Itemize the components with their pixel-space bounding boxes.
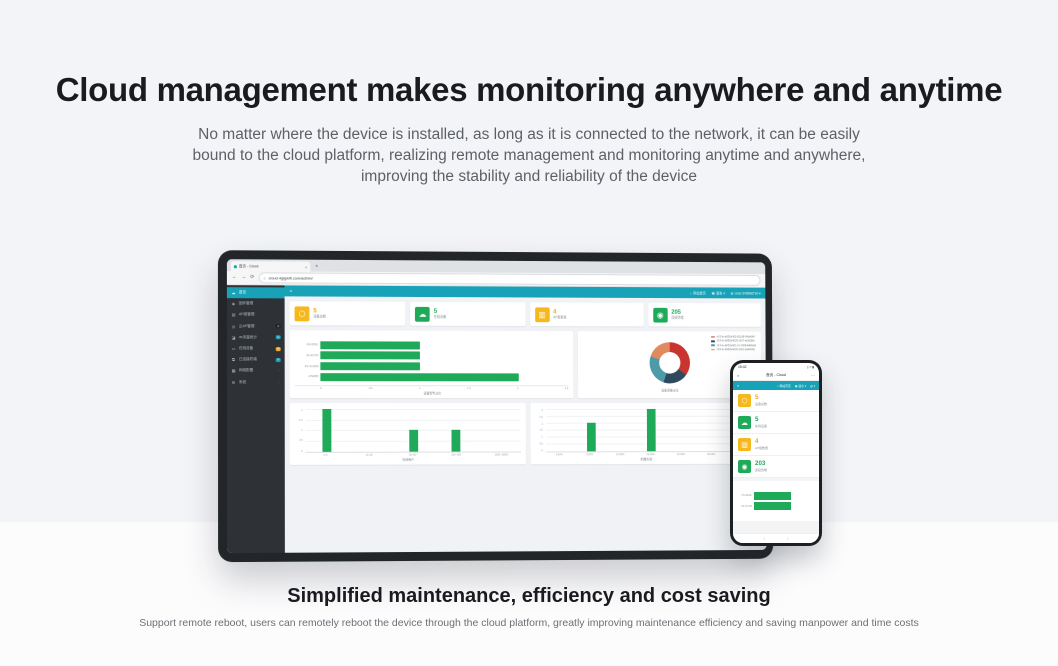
- back-icon[interactable]: ←: [232, 275, 237, 280]
- language-icon: ▣: [795, 384, 798, 388]
- chart-traffic-usage: 3 2.5 2 1.5 1 0.5 0: [530, 403, 761, 464]
- app-main: ≡ ⌂ 网站首页 ▣ 语言 ▾ ◍: [285, 285, 767, 552]
- share-icon: ⧉: [231, 358, 236, 362]
- phone-status-bar: 15:42 ▯ ⌾ ▮: [733, 363, 819, 371]
- address-bar[interactable]: ⌂ cloud.4glgwifi.com/admin/: [258, 273, 760, 286]
- reload-icon[interactable]: ⟳: [250, 275, 254, 280]
- sidebar-item-label: 云AP管理: [239, 324, 255, 329]
- header-item-website[interactable]: ⌂ 网站首页: [690, 290, 706, 295]
- bar-fill: [754, 502, 791, 510]
- menu-toggle-icon[interactable]: ≡: [737, 384, 739, 388]
- bar-fill: [320, 352, 420, 360]
- header-item-label: User:345688736 ▾: [735, 291, 761, 295]
- axis-tick: 0.5: [539, 442, 542, 445]
- stat-label: 设备总数: [313, 315, 326, 318]
- stat-value: 203: [755, 461, 767, 467]
- phone-title-bar: × 首页 - Cloud ⋯: [733, 371, 819, 381]
- bar-category-label: XS-3000L: [295, 344, 319, 347]
- legend-label: rf13-lu-fd052e0020-1107-e01608b: [717, 340, 755, 343]
- browser-tab-title: 首页 - Cloud: [239, 264, 259, 269]
- chart-device-model-ratio: XS-3000L XS-4C700 XS-4C100: [290, 330, 574, 398]
- phone-chart-device-model-ratio: XS-3000L XS-4C700: [733, 481, 819, 521]
- bar-row: XS-3000L: [295, 341, 569, 350]
- sidebar-item-label: AP组管理: [239, 313, 255, 318]
- stat-value: 4: [755, 439, 768, 445]
- sidebar-item-network-config[interactable]: ▦ 网络配置 ›: [227, 365, 285, 376]
- new-tab-button[interactable]: +: [312, 262, 321, 272]
- legend-label: rf13-lu-fd052e0026-1021-6a40b46: [717, 348, 755, 351]
- tablet-screen: 首页 - Cloud × + ← → ⟳ ⌂ cloud.4glgwifi.co…: [227, 259, 767, 553]
- axis-tick: 1: [541, 436, 542, 439]
- chart-row-top: XS-3000L XS-4C700 XS-4C100: [290, 330, 761, 398]
- user-icon: ◍: [810, 384, 812, 388]
- bar-fill: [320, 373, 519, 381]
- sidebar-item-traffic-stats[interactable]: ◪ as流量统计 0: [227, 332, 285, 343]
- sidebar-item-label: 网络配置: [239, 368, 253, 373]
- phone-stat-card-total-devices[interactable]: ⬡ 5 设备总数: [733, 390, 819, 412]
- phone-app-header: ≡ ⌂ 网站首页 ▣ 语言 ▾ ◍ ▾: [733, 381, 819, 390]
- stat-label: 连接终端: [671, 317, 683, 320]
- address-bar-url: cloud.4glgwifi.com/admin/: [269, 275, 313, 280]
- bar-category-label: XS-4C700: [295, 354, 319, 357]
- axis-tick: 1.5: [539, 429, 542, 432]
- bar-category-label: CPE855: [295, 375, 319, 378]
- phone-header-item-user[interactable]: ◍ ▾: [810, 384, 815, 388]
- hero-section: Cloud management makes monitoring anywhe…: [0, 0, 1058, 187]
- bar-row: XS-4C1000: [295, 362, 569, 370]
- phone-screen: 15:42 ▯ ⌾ ▮ × 首页 - Cloud ⋯ ≡ ⌂ 网站首页 ▣ 语言: [733, 363, 819, 543]
- signal-battery-icons: ▯ ⌾ ▮: [807, 365, 814, 369]
- sidebar-badge: 0: [276, 358, 281, 362]
- axis-tick: 2: [301, 409, 302, 412]
- app-body: ☁ 首页 ◈ 固件管理 ▤ AP组管理 ◎ 云AP管理 0: [227, 285, 767, 553]
- bar: [323, 409, 332, 451]
- chart-row-bottom: 2 1.5 1 0.5 0: [290, 403, 762, 465]
- status-time: 15:42: [738, 365, 747, 369]
- bar-category-label: XS-3000L: [738, 494, 752, 497]
- bar: [452, 430, 461, 451]
- ap-group-icon: ▥: [738, 438, 751, 451]
- axis-tick: 2: [541, 422, 542, 425]
- forward-icon[interactable]: →: [241, 275, 246, 280]
- phone-header-item-language[interactable]: ▣ 语言 ▾: [795, 384, 806, 388]
- phone-header-label: 网站首页: [780, 384, 791, 388]
- sidebar-item-label: 在线设备: [239, 346, 253, 351]
- sidebar-item-firmware[interactable]: ◈ 固件管理: [227, 298, 285, 309]
- sidebar-item-cloud-ap[interactable]: ◎ 云AP管理 0: [227, 321, 285, 332]
- legend-entry: rf13-lu-fd052e0026-1021-6a40b46: [711, 348, 756, 351]
- footer-title: Simplified maintenance, efficiency and c…: [0, 582, 1058, 610]
- phone-stat-card-online-devices[interactable]: ☁ 5 在线设备: [733, 412, 819, 434]
- bar-fill: [754, 492, 791, 500]
- y-axis-ticks: 2 1.5 1 0.5 0: [295, 409, 304, 452]
- x-axis-title: 在线用户: [295, 456, 521, 462]
- axis-tick: 3: [541, 409, 542, 412]
- network-icon: ▦: [231, 368, 236, 373]
- chart-legend: rf13-lu-fd052e301411108-040e540 rf13-lu-…: [711, 335, 756, 351]
- legend-entry: rf13-lu-fd052e301411108-040e540: [711, 335, 756, 338]
- bar-row: CPE855: [295, 373, 569, 381]
- legend-swatch: [711, 336, 715, 338]
- donut-chart: [649, 342, 690, 383]
- devices-icon: ⬡: [295, 306, 310, 321]
- stat-card-connected-clients[interactable]: ◉ 205 连接终端: [648, 303, 761, 327]
- device-mockup-stage: 首页 - Cloud × + ← → ⟳ ⌂ cloud.4glgwifi.co…: [200, 240, 860, 580]
- header-item-user[interactable]: ◍ User:345688736 ▾: [731, 291, 761, 295]
- nav-prev-icon[interactable]: ‹: [764, 536, 766, 541]
- page-subtitle: No matter where the device is installed,…: [179, 112, 879, 187]
- phone-device: 15:42 ▯ ⌾ ▮ × 首页 - Cloud ⋯ ≡ ⌂ 网站首页 ▣ 语言: [730, 360, 822, 546]
- close-icon[interactable]: ×: [305, 264, 307, 269]
- chart-title: 设备流量占比: [661, 386, 678, 391]
- x-axis-title: 机器负载: [535, 455, 756, 461]
- bar-category-label: XS-4C700: [738, 505, 752, 508]
- user-icon: ◍: [731, 291, 734, 295]
- phone-header-label: 语言 ▾: [798, 384, 806, 388]
- stat-card-total-devices[interactable]: ⬡ 5 设备总数: [290, 301, 406, 325]
- header-item-language[interactable]: ▣ 语言 ▾: [712, 290, 725, 295]
- language-icon: ▣: [712, 291, 715, 295]
- gear-icon: ⚙: [231, 380, 236, 385]
- header-item-label: 语言 ▾: [716, 290, 725, 295]
- home-icon: ⌂: [777, 384, 779, 388]
- sidebar-item-system[interactable]: ⚙ 系统 ›: [227, 377, 285, 388]
- bar: [587, 423, 596, 451]
- footer-section: Simplified maintenance, efficiency and c…: [0, 582, 1058, 631]
- legend-label: rf13-lu-fd052e0011-0-1908-84f0db8: [717, 344, 756, 347]
- cloud-icon: ☁: [231, 290, 236, 295]
- chart-icon: ◪: [231, 335, 236, 340]
- stat-label: 连接终端: [755, 469, 767, 472]
- devices-icon: ⬡: [738, 394, 751, 407]
- sidebar-item-label: 固件管理: [239, 301, 253, 306]
- monitor-icon: ▭: [231, 346, 236, 351]
- legend-label: rf13-lu-fd052e301411108-040e540: [717, 335, 755, 338]
- x-axis-title: 设备型号占比: [295, 390, 569, 396]
- phone-header-item-website[interactable]: ⌂ 网站首页: [777, 384, 791, 388]
- sidebar-item-connected-clients[interactable]: ⧉ 已连接终端 0: [227, 354, 285, 365]
- phone-stat-list: ⬡ 5 设备总数 ☁ 5 在线设备 ▥ 4: [733, 390, 819, 533]
- cloud-ap-icon: ◎: [231, 324, 236, 329]
- firmware-icon: ◈: [231, 301, 236, 306]
- axis-tick: 1: [301, 429, 302, 432]
- footer-subtitle: Support remote reboot, users can remotel…: [79, 616, 979, 631]
- bar: [647, 409, 656, 451]
- sidebar-item-home[interactable]: ☁ 首页: [227, 287, 285, 298]
- sidebar-badge: 0: [276, 324, 281, 328]
- more-icon[interactable]: ⋯: [811, 373, 815, 378]
- phone-stat-card-connected-clients[interactable]: ◉ 203 连接终端: [733, 456, 819, 478]
- app-content: ⬡ 5 设备总数 ☁ 5 在线设备: [285, 296, 767, 552]
- header-item-label: 网站首页: [693, 290, 706, 295]
- page-title: Cloud management makes monitoring anywhe…: [0, 0, 1058, 112]
- sidebar-item-label: as流量统计: [239, 335, 257, 340]
- cloud-icon: ☁: [415, 306, 430, 321]
- sidebar-item-label: 系统: [239, 380, 246, 385]
- bar-row: XS-4C700: [738, 502, 814, 510]
- clients-icon: ◉: [738, 460, 751, 473]
- browser-tab[interactable]: 首页 - Cloud ×: [231, 261, 310, 271]
- sidebar-item-online-devices[interactable]: ▭ 在线设备 0: [227, 343, 285, 354]
- phone-bottom-nav: ‹ ›: [733, 533, 819, 543]
- bar-category-label: XS-4C1000: [295, 365, 319, 368]
- chevron-right-icon: ›: [277, 369, 281, 373]
- nav-next-icon[interactable]: ›: [787, 536, 789, 541]
- home-icon: ⌂: [690, 291, 692, 295]
- legend-entry: rf13-lu-fd052e0020-1107-e01608b: [711, 340, 756, 343]
- app-sidebar: ☁ 首页 ◈ 固件管理 ▤ AP组管理 ◎ 云AP管理 0: [227, 285, 285, 553]
- sidebar-item-label: 已连接终端: [239, 357, 257, 362]
- bar: [409, 430, 418, 451]
- sidebar-badge: 0: [276, 336, 281, 340]
- axis-tick: 0.5: [299, 439, 302, 442]
- stat-value: 5: [755, 417, 767, 423]
- chart-online-users: 2 1.5 1 0.5 0: [290, 403, 526, 465]
- stat-card-online-devices[interactable]: ☁ 5 在线设备: [410, 302, 525, 326]
- legend-swatch: [711, 349, 715, 351]
- legend-swatch: [711, 345, 715, 347]
- legend-swatch: [711, 340, 715, 342]
- axis-tick: 1.5: [299, 419, 302, 422]
- stat-value: 5: [755, 395, 767, 401]
- bar-row: XS-3000L: [738, 492, 814, 500]
- phone-page-title: 首页 - Cloud: [766, 373, 786, 378]
- chevron-right-icon: ›: [277, 380, 281, 384]
- hbar-plot: XS-3000L XS-4C700 XS-4C100: [295, 334, 569, 385]
- stat-card-ap-groups[interactable]: ▥ 4 AP组数量: [530, 302, 644, 326]
- vbar-plot: [306, 409, 521, 452]
- phone-header-label: ▾: [814, 384, 815, 388]
- stat-label: AP组数量: [553, 316, 566, 319]
- cloud-icon: ☁: [738, 416, 751, 429]
- stat-label: 设备总数: [755, 403, 767, 406]
- stat-label: 在线设备: [755, 425, 767, 428]
- sidebar-item-ap-group[interactable]: ▤ AP组管理: [227, 309, 285, 320]
- lock-icon: ⌂: [263, 276, 265, 280]
- clients-icon: ◉: [653, 307, 667, 322]
- phone-stat-card-ap-groups[interactable]: ▥ 4 AP组数量: [733, 434, 819, 456]
- bar-fill: [320, 341, 420, 349]
- sidebar-badge: 0: [276, 347, 281, 351]
- axis-tick: 2.5: [539, 416, 542, 419]
- ap-group-icon: ▤: [231, 313, 236, 318]
- bar-fill: [320, 362, 420, 370]
- menu-toggle-icon[interactable]: ≡: [290, 288, 293, 293]
- ap-group-icon: ▥: [535, 307, 550, 322]
- close-icon[interactable]: ×: [737, 373, 739, 378]
- app-header-actions: ⌂ 网站首页 ▣ 语言 ▾ ◍ User:345688736 ▾: [690, 290, 761, 295]
- bar-row: XS-4C700: [295, 352, 569, 360]
- y-axis-ticks: 3 2.5 2 1.5 1 0.5 0: [535, 409, 544, 452]
- favicon-icon: [234, 265, 237, 268]
- stat-label: AP组数量: [755, 447, 768, 450]
- stat-cards: ⬡ 5 设备总数 ☁ 5 在线设备: [290, 301, 761, 326]
- vbar-plot: [546, 409, 757, 452]
- tablet-device: 首页 - Cloud × + ← → ⟳ ⌂ cloud.4glgwifi.co…: [218, 250, 773, 562]
- legend-entry: rf13-lu-fd052e0011-0-1908-84f0db8: [711, 344, 756, 347]
- stat-label: 在线设备: [434, 316, 447, 319]
- sidebar-item-label: 首页: [239, 290, 246, 295]
